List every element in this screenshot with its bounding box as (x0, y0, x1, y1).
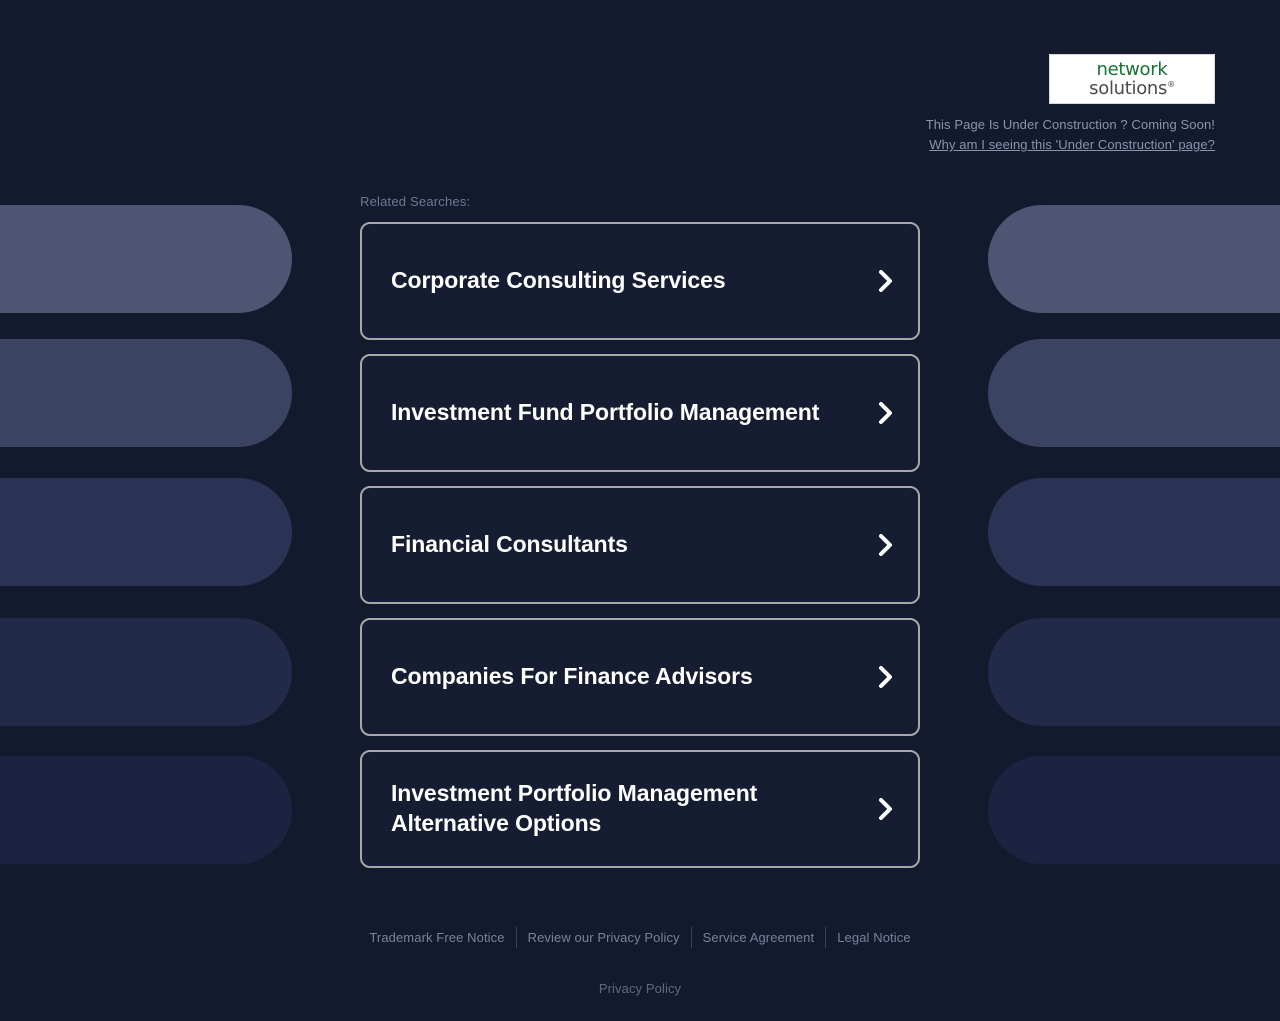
decorative-pill-right-1 (988, 205, 1280, 313)
related-search-title: Investment Portfolio Management Alternat… (391, 779, 860, 839)
logo-text-network: network (1050, 61, 1214, 79)
related-search-card[interactable]: Corporate Consulting Services (360, 222, 920, 340)
registered-mark-icon: ® (1167, 80, 1175, 89)
related-search-title: Investment Fund Portfolio Management (391, 398, 819, 428)
related-search-card[interactable]: Investment Portfolio Management Alternat… (360, 750, 920, 868)
decorative-pill-right-2 (988, 339, 1280, 447)
privacy-policy-link[interactable]: Privacy Policy (599, 981, 681, 996)
footer-privacy-policy-row: Privacy Policy (0, 948, 1280, 998)
footer-link-review-our-privacy-policy[interactable]: Review our Privacy Policy (517, 927, 691, 948)
related-search-card[interactable]: Financial Consultants (360, 486, 920, 604)
decorative-pill-right-4 (988, 618, 1280, 726)
related-search-card[interactable]: Investment Fund Portfolio Management (360, 354, 920, 472)
footer-link-legal-notice[interactable]: Legal Notice (826, 927, 921, 948)
decorative-pill-left-5 (0, 756, 292, 864)
decorative-pill-left-1 (0, 205, 292, 313)
footer-link-list: Trademark Free Notice Review our Privacy… (358, 927, 921, 948)
page-footer: Trademark Free Notice Review our Privacy… (0, 927, 1280, 998)
related-searches-label: Related Searches: (360, 194, 920, 209)
decorative-pill-left-3 (0, 478, 292, 586)
related-search-title: Financial Consultants (391, 530, 628, 560)
chevron-right-icon (876, 399, 896, 427)
footer-link-service-agreement[interactable]: Service Agreement (692, 927, 826, 948)
decorative-pill-left-2 (0, 339, 292, 447)
related-search-card[interactable]: Companies For Finance Advisors (360, 618, 920, 736)
related-search-title: Companies For Finance Advisors (391, 662, 753, 692)
network-solutions-logo[interactable]: network solutions® (1049, 54, 1215, 104)
footer-link-trademark-free-notice[interactable]: Trademark Free Notice (358, 927, 515, 948)
related-searches-list: Corporate Consulting Services Investment… (360, 222, 920, 868)
chevron-right-icon (876, 663, 896, 691)
related-search-title: Corporate Consulting Services (391, 266, 726, 296)
logo-text-solutions: solutions® (1050, 80, 1214, 98)
decorative-pill-right-3 (988, 478, 1280, 586)
main-content: Related Searches: Corporate Consulting S… (360, 0, 920, 868)
decorative-pill-left-4 (0, 618, 292, 726)
chevron-right-icon (876, 795, 896, 823)
chevron-right-icon (876, 531, 896, 559)
chevron-right-icon (876, 267, 896, 295)
decorative-pill-right-5 (988, 756, 1280, 864)
